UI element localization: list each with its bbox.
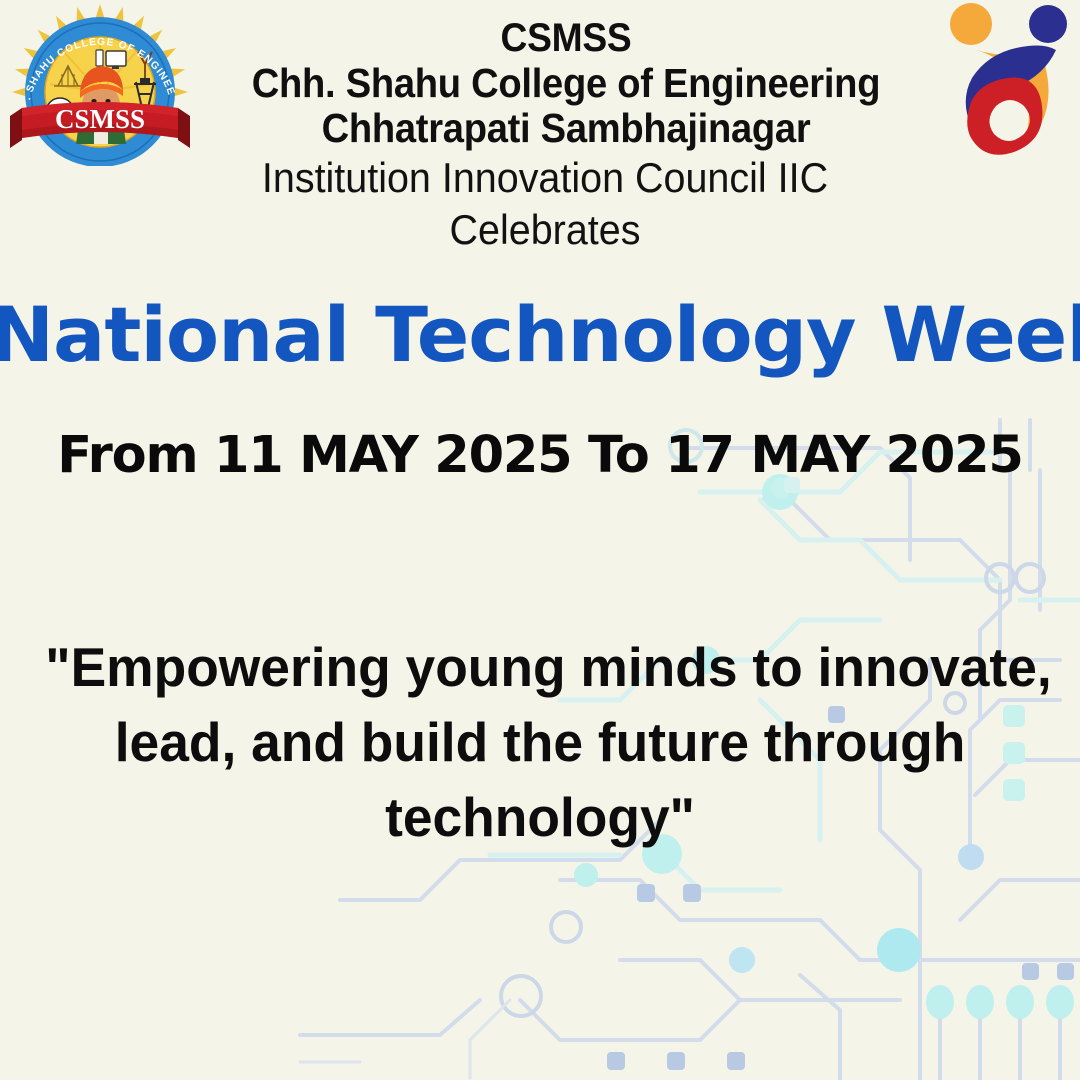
- poster-canvas: CHH. SHAHU COLLEGE OF ENGINEERING CSMSS: [0, 0, 1080, 1080]
- institution-header: CSMSS Chh. Shahu College of Engineering …: [196, 16, 936, 151]
- event-date-range: From 11 MAY 2025 To 17 MAY 2025: [0, 424, 1080, 488]
- event-title: National Technology Week: [0, 292, 1080, 378]
- iic-blue-head: [1029, 5, 1067, 43]
- event-quote: "Empowering young minds to innovate, lea…: [45, 630, 1034, 855]
- iic-logo: [938, 2, 1070, 162]
- quote-line-2: lead, and build the future through: [45, 705, 1034, 780]
- iic-orange-head: [950, 3, 992, 45]
- quote-line-3: technology": [45, 780, 1034, 855]
- csmss-college-logo: CHH. SHAHU COLLEGE OF ENGINEERING CSMSS: [2, 4, 198, 166]
- institution-city: Chhatrapati Sambhajinagar: [222, 106, 910, 151]
- quote-line-1: "Empowering young minds to innovate,: [45, 630, 1034, 705]
- organizer-block: Institution Innovation Council IIC Celeb…: [174, 152, 917, 256]
- logo-banner-text: CSMSS: [55, 104, 145, 134]
- institution-full-name: Chh. Shahu College of Engineering: [222, 61, 910, 106]
- organizer-line-2: Celebrates: [174, 204, 917, 256]
- organizer-line-1: Institution Innovation Council IIC: [174, 152, 917, 204]
- institution-short-name: CSMSS: [222, 16, 910, 61]
